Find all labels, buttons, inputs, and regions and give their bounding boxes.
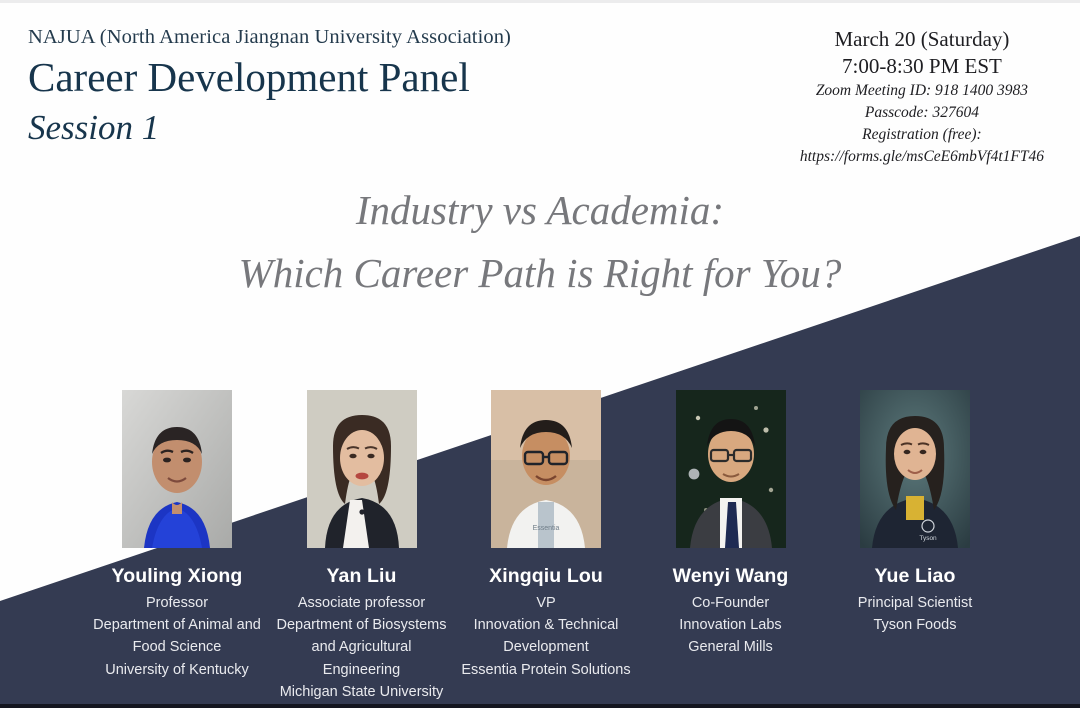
registration-link[interactable]: https://forms.gle/msCeE6mbVf4t1FT46 [800,146,1044,168]
headshot-xingqiu-lou: Essentia [491,390,601,548]
top-divider [0,0,1080,3]
zoom-passcode: Passcode: 327604 [800,102,1044,124]
speaker-detail-line: Essentia Protein Solutions [457,659,635,681]
speaker-card: Wenyi Wang Co-Founder Innovation Labs Ge… [642,390,820,659]
headshot-wenyi-wang [676,390,786,548]
speaker-name: Xingqiu Lou [457,565,635,587]
event-time: 7:00-8:30 PM EST [800,53,1044,80]
speaker-detail-line: Co-Founder [642,592,820,614]
speaker-detail-line: Department of Animal and [88,614,266,636]
svg-text:Essentia: Essentia [533,525,560,532]
meeting-info: March 20 (Saturday) 7:00-8:30 PM EST Zoo… [800,26,1044,168]
speaker-details: VP Innovation & Technical Development Es… [457,592,635,680]
speaker-details: Principal Scientist Tyson Foods [826,592,1004,636]
speaker-card: Yan Liu Associate professor Department o… [273,390,451,703]
speaker-card: Essentia Xingqiu Lou VP Innovation & Tec… [457,390,635,681]
speaker-detail-line: Michigan State University [273,681,451,703]
speaker-detail-line: Food Science [88,636,266,658]
speaker-card: Tyson Yue Liao Principal Scientist Tyson… [826,390,1004,636]
topic-line-1: Industry vs Academia: [0,190,1080,231]
organization-name: NAJUA (North America Jiangnan University… [28,26,511,49]
bottom-divider [0,704,1080,708]
speaker-detail-line: Department of Biosystems [273,614,451,636]
speaker-detail-line: General Mills [642,636,820,658]
speaker-name: Yan Liu [273,565,451,587]
headshot-youling-xiong [122,390,232,548]
speaker-name: Yue Liao [826,565,1004,587]
speaker-details: Professor Department of Animal and Food … [88,592,266,680]
header-left: NAJUA (North America Jiangnan University… [28,26,511,148]
speaker-detail-line: University of Kentucky [88,659,266,681]
speaker-detail-line: VP [457,592,635,614]
panel-topic: Industry vs Academia: Which Career Path … [0,190,1080,294]
svg-text:Tyson: Tyson [919,535,937,542]
speaker-name: Wenyi Wang [642,565,820,587]
speaker-detail-line: Development [457,636,635,658]
speaker-detail-line: and Agricultural Engineering [273,636,451,680]
speaker-detail-line: Professor [88,592,266,614]
speaker-card: Youling Xiong Professor Department of An… [88,390,266,681]
speaker-name: Youling Xiong [88,565,266,587]
topic-line-2: Which Career Path is Right for You? [0,253,1080,294]
registration-label: Registration (free): [800,124,1044,146]
speaker-details: Associate professor Department of Biosys… [273,592,451,702]
event-date: March 20 (Saturday) [800,26,1044,53]
zoom-meeting-id: Zoom Meeting ID: 918 1400 3983 [800,80,1044,102]
speaker-detail-line: Innovation & Technical [457,614,635,636]
event-poster: NAJUA (North America Jiangnan University… [0,0,1080,708]
headshot-yue-liao: Tyson [860,390,970,548]
speaker-list: Youling Xiong Professor Department of An… [88,390,1004,703]
speaker-detail-line: Innovation Labs [642,614,820,636]
speaker-details: Co-Founder Innovation Labs General Mills [642,592,820,658]
speaker-detail-line: Tyson Foods [826,614,1004,636]
speaker-detail-line: Associate professor [273,592,451,614]
headshot-yan-liu [307,390,417,548]
page-title: Career Development Panel [28,55,511,101]
speaker-detail-line: Principal Scientist [826,592,1004,614]
session-label: Session 1 [28,108,511,148]
